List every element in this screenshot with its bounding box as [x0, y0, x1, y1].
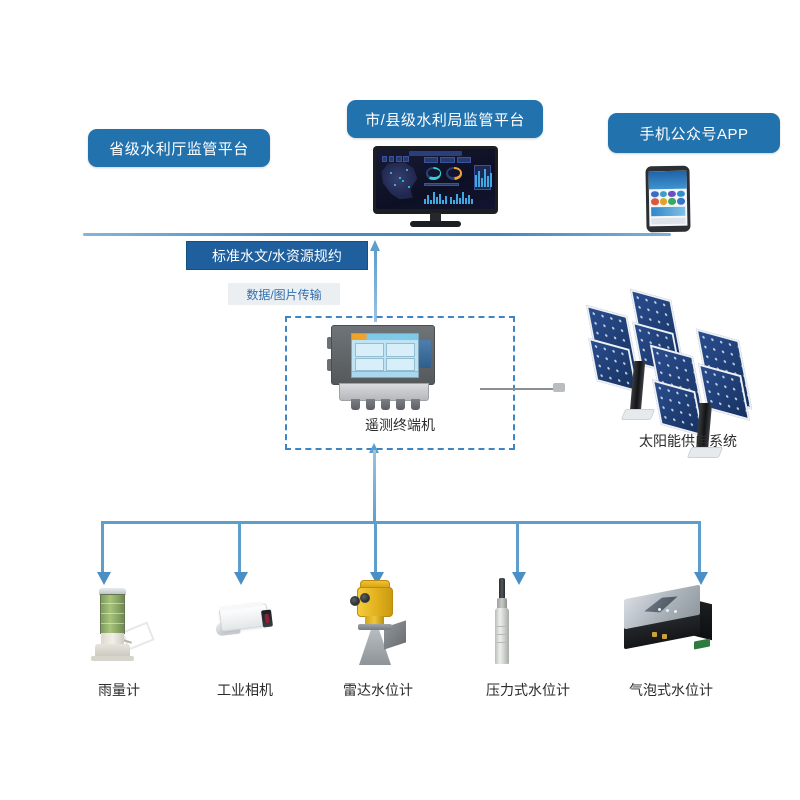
sensor-bus-line: [101, 521, 701, 524]
diagram-canvas: 省级水利厅监管平台 市/县级水利局监管平台 手机公众号APP: [0, 0, 800, 800]
protocol-label: 标准水文/水资源规约: [186, 241, 368, 270]
smartphone-illustration: [646, 166, 690, 232]
phone-frame: [645, 166, 690, 233]
monitor-screen: [376, 149, 495, 209]
phone-promo-banner: [651, 207, 685, 216]
sensor-label-radar-level-gauge: 雷达水位计: [303, 680, 453, 700]
bubbler-level-gauge-illustration: [622, 588, 714, 656]
bus-arrow-rain-gauge: [97, 572, 111, 585]
monitor-bezel: [373, 146, 498, 214]
rtu-connector-port: [419, 340, 431, 368]
phone-screen: [649, 171, 688, 227]
platform-provincial[interactable]: 省级水利厅监管平台: [88, 129, 270, 167]
bus-drop-industrial-camera: [238, 521, 241, 577]
uplink-arrow-shaft: [374, 250, 377, 322]
dashboard-title-bar: [409, 151, 461, 156]
rtu-device-illustration: [327, 325, 445, 409]
bus-drop-pressure-level-gauge: [516, 521, 519, 577]
platform-municipal[interactable]: 市/县级水利局监管平台: [347, 100, 543, 138]
bus-drop-bubbler-level-gauge: [698, 521, 701, 577]
bus-drop-radar-level-gauge: [374, 521, 377, 577]
monitor-stand-base: [410, 221, 461, 227]
sensor-label-industrial-camera: 工业相机: [170, 680, 320, 700]
phone-icon-grid: [651, 191, 685, 206]
rain-gauge-illustration: [82, 588, 156, 662]
sensor-label-bubbler-level-gauge: 气泡式水位计: [596, 680, 746, 700]
data-transmission-label: 数据/图片传输: [228, 283, 340, 305]
dashboard-map: [381, 162, 419, 199]
bus-arrow-bubbler-level-gauge: [694, 572, 708, 585]
sensor-bus-riser: [373, 450, 376, 523]
industrial-camera-illustration: [210, 598, 280, 654]
pressure-level-gauge-illustration: [486, 578, 520, 664]
monitor-illustration: [373, 146, 498, 230]
platform-mobile-app[interactable]: 手机公众号APP: [608, 113, 780, 153]
antenna-tip: [553, 383, 565, 392]
solar-power-label: 太阳能供电系统: [588, 431, 788, 451]
antenna-wire: [480, 388, 560, 390]
rtu-body: [331, 325, 435, 385]
rtu-screen: [351, 333, 419, 378]
platform-trunk-line: [83, 233, 671, 236]
radar-level-gauge-illustration: [338, 580, 418, 665]
phone-hero-banner: [649, 171, 687, 189]
phone-list-rows: [652, 217, 686, 224]
rtu-label: 遥测终端机: [285, 415, 515, 435]
bus-arrow-industrial-camera: [234, 572, 248, 585]
sensor-label-pressure-level-gauge: 压力式水位计: [453, 680, 603, 700]
uplink-arrow: [370, 240, 381, 322]
bus-drop-rain-gauge: [101, 521, 104, 577]
